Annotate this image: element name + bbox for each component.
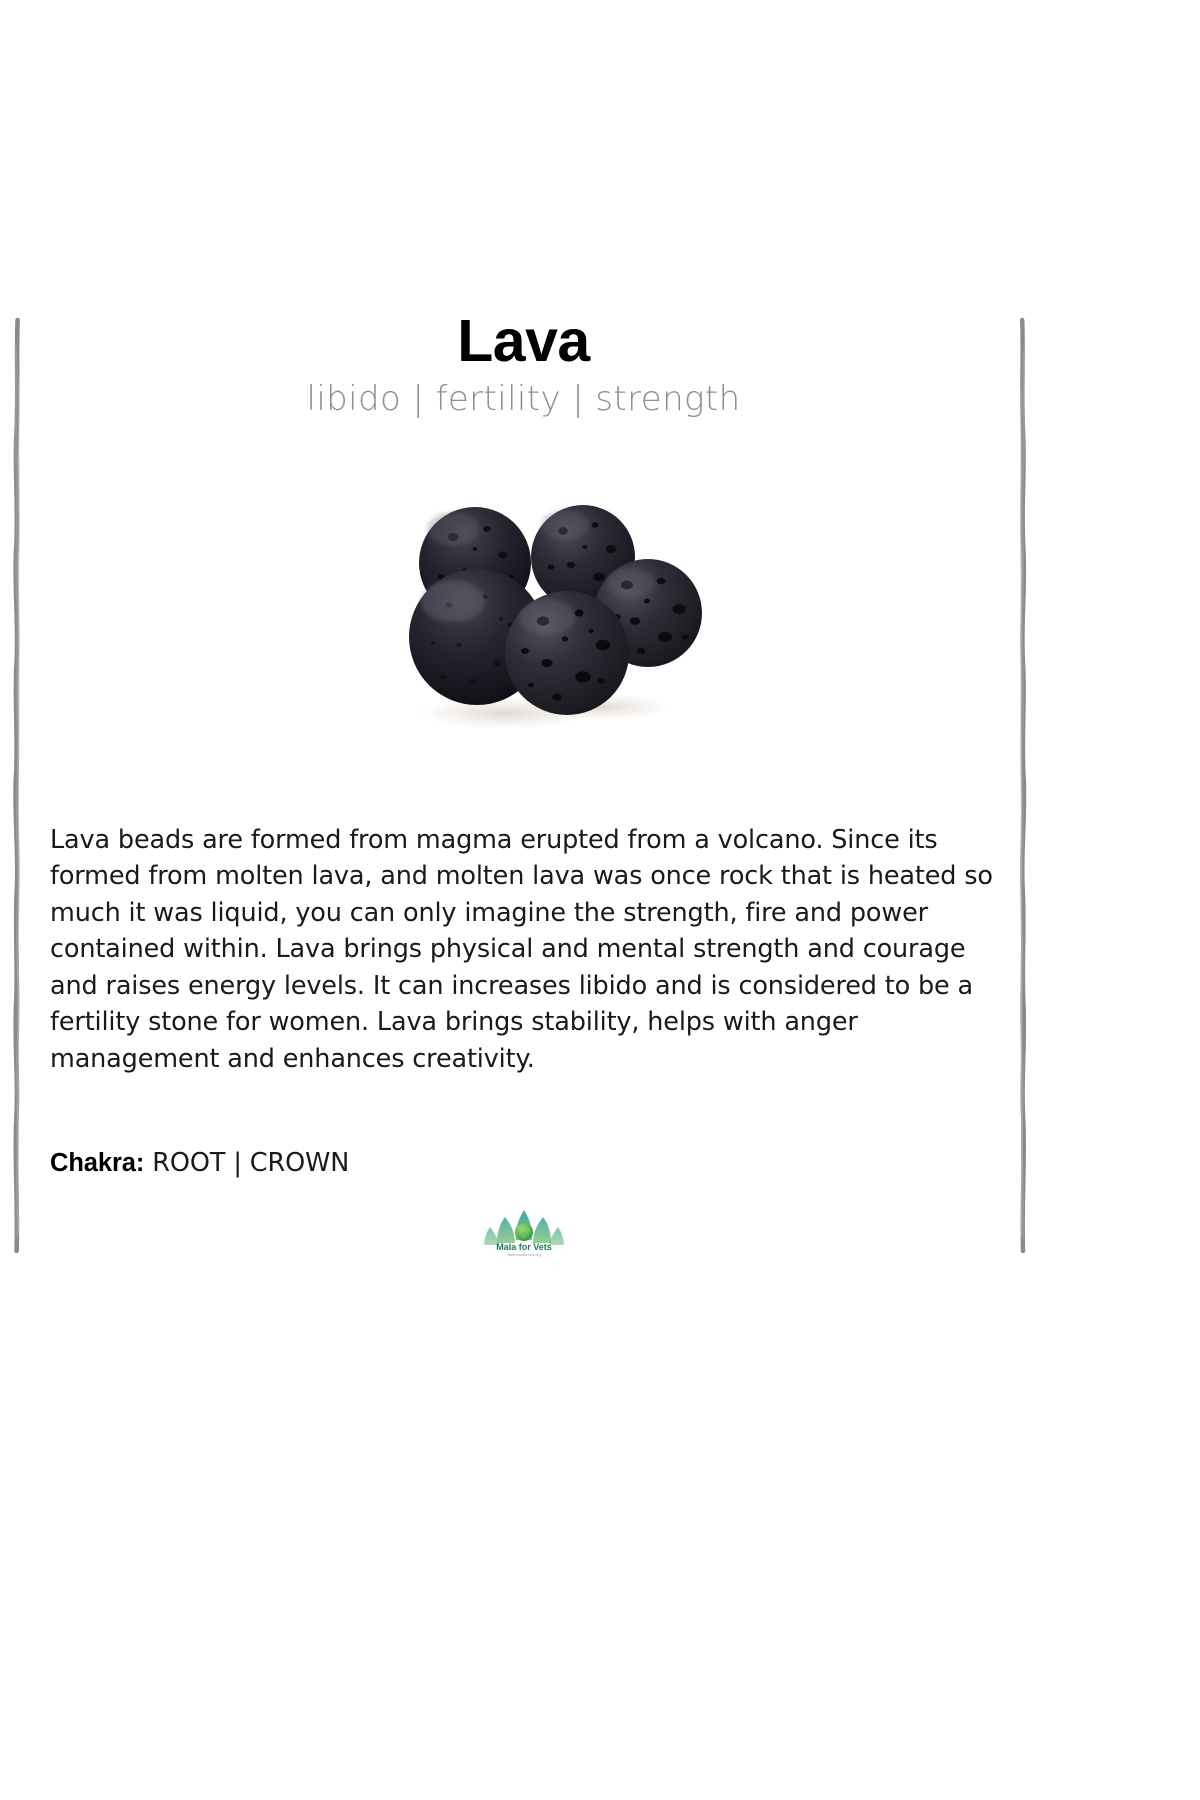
stone-info-card: Lava libido | fertility | strength — [0, 0, 1047, 1800]
chakra-label: Chakra: — [50, 1149, 144, 1177]
stone-description: Lava beads are formed from magma erupted… — [50, 822, 1000, 1078]
torn-edge-right-icon — [1014, 318, 1030, 1253]
logo-wordmark: Mala for Vets — [496, 1242, 552, 1252]
mala-for-vets-logo: Mala for Vets www.malaforvets.org — [481, 1207, 567, 1259]
stone-attributes-subtitle: libido | fertility | strength — [0, 378, 1047, 420]
page-title: Lava — [0, 308, 1047, 374]
lava-beads-photo — [355, 485, 715, 735]
torn-edge-left-icon — [10, 318, 26, 1253]
logo-tagline: www.malaforvets.org — [507, 1253, 540, 1257]
stone-info-card-page: Lava libido | fertility | strength — [0, 0, 1200, 1800]
chakra-value: ROOT | CROWN — [144, 1148, 349, 1178]
chakra-line: Chakra: ROOT | CROWN — [50, 1146, 1000, 1180]
